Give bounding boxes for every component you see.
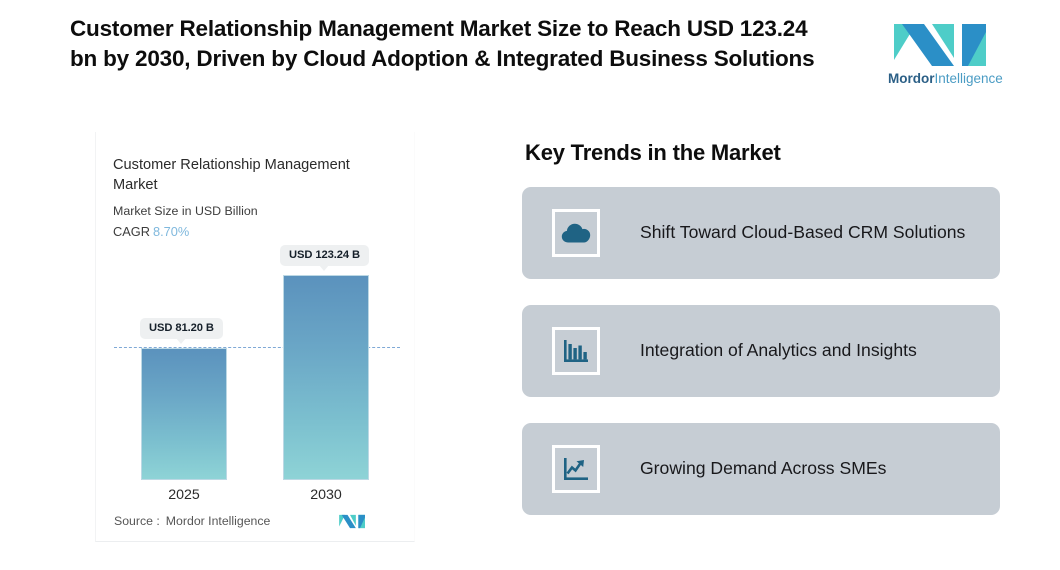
x-axis-tick-2030: 2030 <box>271 487 381 503</box>
bar-chart-icon <box>562 337 590 365</box>
chart-source: Source :Mordor Intelligence <box>114 514 270 528</box>
x-axis-tick-2025: 2025 <box>129 487 239 503</box>
trend-card-label: Integration of Analytics and Insights <box>640 339 970 363</box>
trend-card-cloud[interactable]: Shift Toward Cloud-Based CRM Solutions <box>522 187 1000 279</box>
trend-card-sme-demand[interactable]: Growing Demand Across SMEs <box>522 423 1000 515</box>
bar-chart-plot-area: USD 81.20 B USD 123.24 B 2025 2030 <box>96 132 416 492</box>
page-title: Customer Relationship Management Market … <box>70 14 840 74</box>
trend-icon-frame <box>552 445 600 493</box>
trend-card-label: Shift Toward Cloud-Based CRM Solutions <box>640 221 970 245</box>
chart-panel: Customer Relationship Management Market … <box>95 132 415 542</box>
page-header: Customer Relationship Management Market … <box>0 0 1060 118</box>
bar-value-label-2030: USD 123.24 B <box>280 245 369 266</box>
source-name: Mordor Intelligence <box>166 514 271 528</box>
mordor-logo-mark <box>892 20 994 68</box>
bar-2030 <box>283 275 369 480</box>
trend-icon-frame <box>552 327 600 375</box>
logo-wordmark-light: Intelligence <box>935 71 1003 86</box>
trend-card-label: Growing Demand Across SMEs <box>640 457 970 481</box>
trending-up-icon <box>562 455 590 483</box>
logo-wordmark: MordorIntelligence <box>888 71 998 86</box>
bar-2025 <box>141 348 227 480</box>
source-label: Source : <box>114 514 160 528</box>
mordor-intelligence-logo: MordorIntelligence <box>888 20 998 92</box>
cloud-icon <box>561 222 591 244</box>
trend-icon-frame <box>552 209 600 257</box>
key-trends-section: Key Trends in the Market Shift Toward Cl… <box>522 140 1000 541</box>
mordor-logo-mark-small <box>338 514 367 529</box>
key-trends-heading: Key Trends in the Market <box>525 140 1000 166</box>
logo-wordmark-bold: Mordor <box>888 71 935 86</box>
bar-value-label-2025: USD 81.20 B <box>140 318 223 339</box>
trend-card-analytics[interactable]: Integration of Analytics and Insights <box>522 305 1000 397</box>
